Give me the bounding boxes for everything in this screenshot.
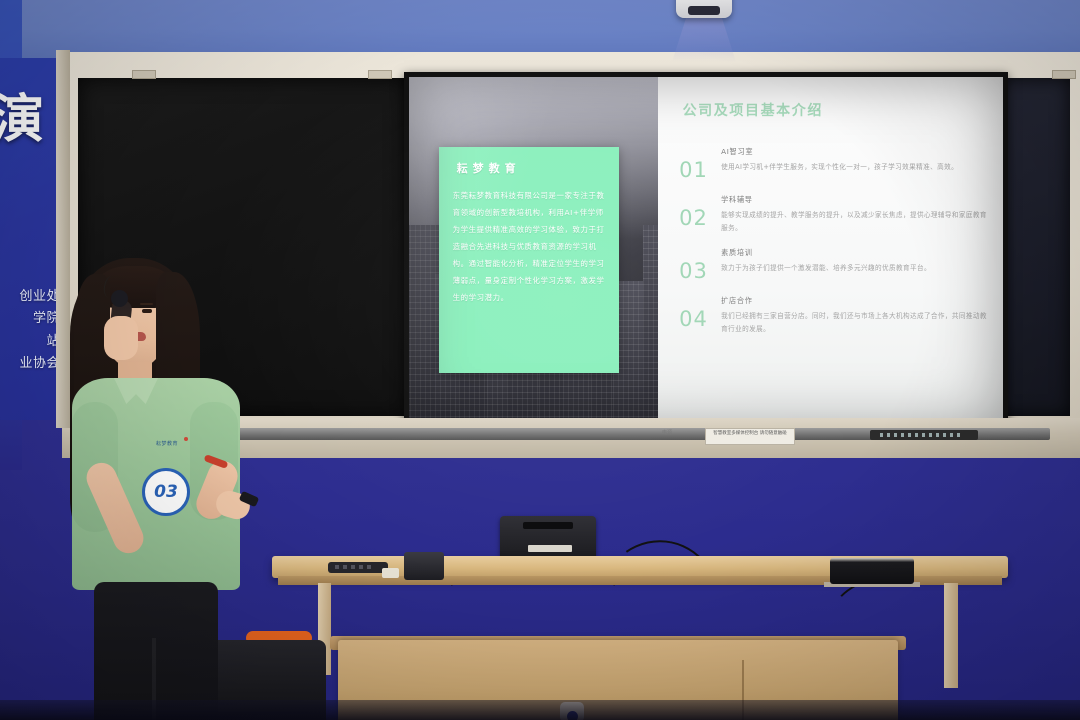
shirt-logo-text: 耘梦教育 [156, 440, 178, 447]
rail-warning-label: 智慧教室多媒体控制台 请勿随意触碰 [705, 428, 795, 445]
small-white-adapter [382, 568, 399, 578]
control-unit-label [528, 545, 572, 552]
rail-power-tag: 电源 [662, 429, 672, 436]
interactive-display-bezel[interactable]: 耘梦教育 东莞耘梦教育科技有限公司是一家专注于教育领域的创新型教培机构，利用AI… [404, 72, 1008, 434]
floor-shadow [0, 700, 1080, 720]
panel-tab [368, 70, 392, 79]
slide-item-list: 01 AI智习室 使用AI学习机+伴学生服务，实现个性化一对一，孩子学习效果精准… [679, 147, 989, 348]
panel-tab [1052, 70, 1076, 79]
contestant-number-badge: 03 [142, 468, 190, 516]
table-leg [944, 583, 958, 688]
hand-left [104, 316, 138, 360]
item-description: 能够实现成绩的提升、教学服务的提升，以及减少家长焦虑，提供心理辅导和家庭教育服务… [721, 209, 989, 235]
item-description: 我们已经拥有三家自营分店。同时，我们还与市场上各大机构达成了合作，共同推动教育行… [721, 310, 989, 336]
company-intro-card: 耘梦教育 东莞耘梦教育科技有限公司是一家专注于教育领域的创新型教培机构，利用AI… [439, 147, 619, 372]
slide-title: 公司及项目基本介绍 [683, 100, 823, 120]
laptop-device[interactable] [830, 558, 914, 584]
black-cube-speaker [404, 552, 444, 580]
slide-content-panel: 公司及项目基本介绍 01 AI智习室 使用AI学习机+伴学生服务，实现个性化一对… [658, 77, 1003, 429]
control-unit-vent [523, 522, 573, 529]
slide-photo-panel: 耘梦教育 东莞耘梦教育科技有限公司是一家专注于教育领域的创新型教培机构，利用AI… [409, 77, 658, 429]
banner-org-line: 站 [0, 331, 60, 353]
item-description: 致力于为孩子们提供一个激发潜能、培养多元兴趣的优质教育平台。 [721, 262, 989, 275]
camera-lens-icon [688, 6, 720, 15]
remote-control[interactable] [328, 562, 388, 573]
item-number: 02 [679, 195, 721, 230]
item-heading: AI智习室 [721, 147, 989, 157]
screenshot-root: 耘梦教育 东莞耘梦教育科技有限公司是一家专注于教育领域的创新型教培机构，利用AI… [0, 0, 1080, 720]
company-name: 耘梦教育 [457, 160, 605, 176]
banner-org-line: 学院 [0, 308, 60, 330]
presentation-slide: 耘梦教育 东莞耘梦教育科技有限公司是一家专注于教育领域的创新型教培机构，利用AI… [409, 77, 1003, 429]
event-banner: 演 创业处 学院 站 业协会 [0, 58, 62, 420]
banner-org-line: 创业处 [0, 286, 60, 308]
eyebrow [140, 303, 153, 305]
banner-headline: 演 [0, 94, 62, 146]
presenter: 耘梦教育 03 [56, 252, 256, 720]
item-number: 01 [679, 147, 721, 182]
banner-org-lines: 创业处 学院 站 业协会 [0, 286, 60, 375]
banner-org-line: 业协会 [0, 353, 60, 375]
shirt-logo-mark [184, 437, 188, 441]
panel-tab [132, 70, 156, 79]
slide-item: 04 扩店合作 我们已经拥有三家自营分店。同时，我们还与市场上各大机构达成了合作… [679, 296, 989, 336]
item-number: 03 [679, 248, 721, 283]
item-heading: 扩店合作 [721, 296, 989, 306]
slide-item: 03 素质培训 致力于为孩子们提供一个激发潜能、培养多元兴趣的优质教育平台。 [679, 248, 989, 283]
company-description: 东莞耘梦教育科技有限公司是一家专注于教育领域的创新型教培机构，利用AI+伴学师为… [453, 188, 605, 306]
badge-number: 03 [154, 482, 178, 502]
slide-item: 01 AI智习室 使用AI学习机+伴学生服务，实现个性化一对一，孩子学习效果精准… [679, 147, 989, 182]
eye [142, 309, 152, 313]
item-heading: 学科辅导 [721, 195, 989, 205]
item-description: 使用AI学习机+伴学生服务，实现个性化一对一，孩子学习效果精准、高效。 [721, 161, 989, 174]
item-number: 04 [679, 296, 721, 331]
item-heading: 素质培训 [721, 248, 989, 258]
slide-item: 02 学科辅导 能够实现成绩的提升、教学服务的提升，以及减少家长焦虑，提供心理辅… [679, 195, 989, 235]
rail-connector-ports [880, 433, 960, 437]
